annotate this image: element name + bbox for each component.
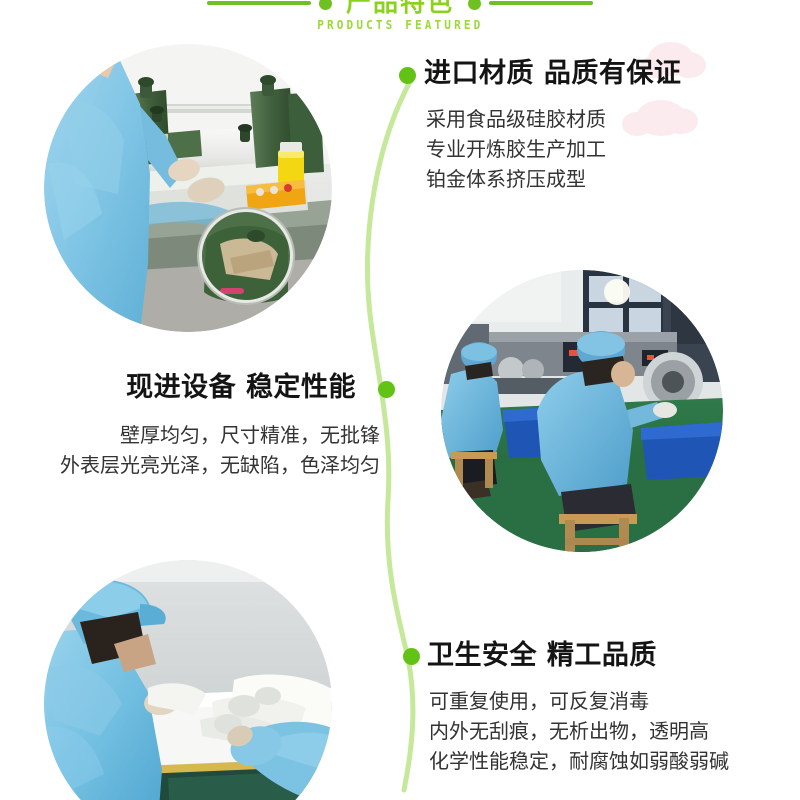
- banner-title: 产品特色: [340, 0, 460, 14]
- feature-line: 采用食品级硅胶材质: [426, 104, 681, 134]
- feature-line: 可重复使用，可反复消毒: [429, 686, 729, 716]
- feature-body: 可重复使用，可反复消毒 内外无刮痕，无析出物，透明高 化学性能稳定，耐腐蚀如弱酸…: [429, 686, 729, 776]
- feature-heading: 现进设备 稳定性能: [48, 372, 382, 404]
- feature-block-advanced-equipment: 现进设备 稳定性能 壁厚均匀，尺寸精准，无批锋 外表层光亮光泽，无缺陷，色泽均匀: [48, 372, 382, 480]
- banner-dot-right-icon: [468, 0, 481, 10]
- feature-heading: 进口材质 品质有保证: [424, 58, 681, 90]
- feature-line: 内外无刮痕，无析出物，透明高: [429, 716, 729, 746]
- feature-node-dot-3-icon: [403, 648, 420, 665]
- photo-rubber-mixing-mill: [44, 44, 332, 332]
- banner-rule-right: [489, 1, 593, 5]
- feature-line: 化学性能稳定，耐腐蚀如弱酸弱碱: [429, 746, 729, 776]
- feature-body: 壁厚均匀，尺寸精准，无批锋 外表层光亮光泽，无缺陷，色泽均匀: [48, 420, 382, 480]
- banner-rule-left: [207, 1, 311, 5]
- banner-title-row: 产品特色: [207, 0, 593, 16]
- feature-line: 专业开炼胶生产加工: [426, 134, 681, 164]
- feature-node-dot-1-icon: [399, 67, 416, 84]
- product-features-poster: 产品特色 PRODUCTS FEATURED: [0, 0, 800, 800]
- feature-line: 壁厚均匀，尺寸精准，无批锋: [48, 420, 380, 450]
- feature-block-hygiene-safety: 卫生安全 精工品质 可重复使用，可反复消毒 内外无刮痕，无析出物，透明高 化学性…: [427, 640, 729, 776]
- section-banner: 产品特色 PRODUCTS FEATURED: [0, 0, 800, 46]
- banner-subtitle: PRODUCTS FEATURED: [317, 18, 483, 32]
- feature-heading: 卫生安全 精工品质: [427, 640, 729, 672]
- feature-line: 外表层光亮光泽，无缺陷，色泽均匀: [48, 450, 380, 480]
- feature-block-imported-material: 进口材质 品质有保证 采用食品级硅胶材质 专业开炼胶生产加工 铂金体系挤压成型: [424, 58, 681, 194]
- banner-dot-left-icon: [319, 0, 332, 10]
- feature-line: 铂金体系挤压成型: [426, 164, 681, 194]
- photo-silicone-inspection-table: [44, 560, 332, 800]
- photo-workshop-extrusion-line: [441, 270, 723, 552]
- feature-body: 采用食品级硅胶材质 专业开炼胶生产加工 铂金体系挤压成型: [426, 104, 681, 194]
